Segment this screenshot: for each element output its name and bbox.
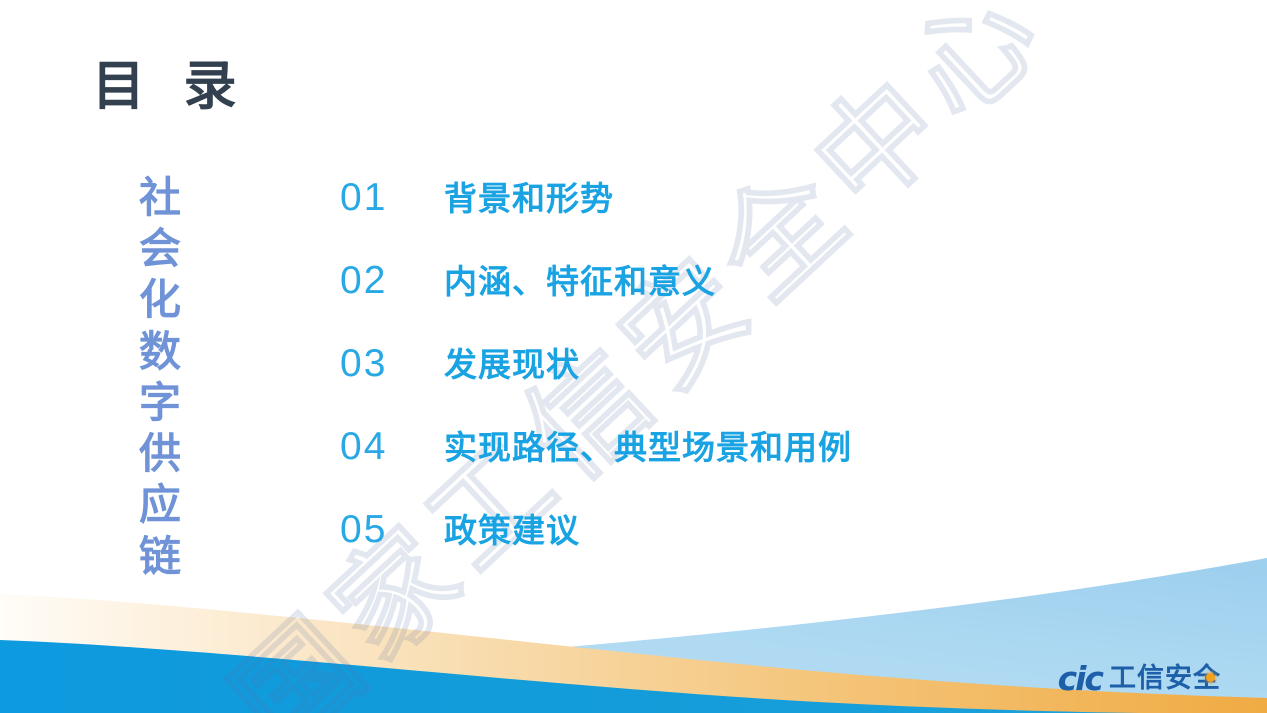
toc-item-number: 01 [340,176,444,220]
toc-item[interactable]: 03发展现状 [340,338,1100,421]
logo-orange-dot-icon [1206,673,1215,682]
toc-item-label: 实现路径、典型场景和用例 [444,421,852,469]
toc-item-label: 政策建议 [444,504,580,552]
toc-item-number: 04 [340,425,444,469]
toc-list: 01背景和形势02内涵、特征和意义03发展现状04实现路径、典型场景和用例05政… [340,172,1100,587]
vertical-title-char: 供 [128,428,192,479]
toc-item[interactable]: 01背景和形势 [340,172,1100,255]
toc-item-label: 背景和形势 [444,172,614,220]
toc-item[interactable]: 04实现路径、典型场景和用例 [340,421,1100,504]
vertical-title-char: 会 [128,223,192,274]
page-title: 目 录 [92,58,246,116]
vertical-title-char: 数 [128,326,192,377]
vertical-title-char: 社 [128,172,192,223]
slide-canvas: 国家工信安全中心 目 录 社会化数字供应链 01背景和形势02内涵、特征和意义0… [0,0,1267,713]
vertical-side-title: 社会化数字供应链 [128,172,192,582]
vertical-title-char: 应 [128,479,192,530]
toc-item[interactable]: 02内涵、特征和意义 [340,255,1100,338]
toc-item[interactable]: 05政策建议 [340,504,1100,587]
logo-wordmark: 工信安全 [1109,665,1221,692]
cic-logo-icon: cic [1058,662,1102,695]
vertical-title-char: 链 [128,531,192,582]
footer-logo: cic 工信安全 [1058,662,1221,695]
toc-item-number: 02 [340,259,444,303]
vertical-title-char: 字 [128,377,192,428]
toc-item-number: 05 [340,508,444,552]
toc-item-number: 03 [340,342,444,386]
toc-item-label: 发展现状 [444,338,580,386]
vertical-title-char: 化 [128,274,192,325]
toc-item-label: 内涵、特征和意义 [444,255,716,303]
